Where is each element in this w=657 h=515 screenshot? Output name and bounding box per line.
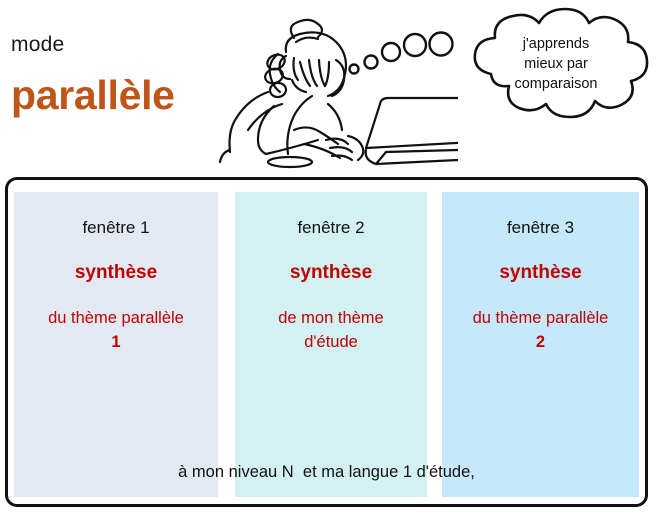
bubble-line-3: comparaison xyxy=(478,74,634,94)
footer-line-1: à mon niveau N et ma langue 1 d'étude, xyxy=(14,456,639,489)
thought-bubble-text: j'apprends mieux par comparaison xyxy=(478,34,634,94)
window-3-number: 2 xyxy=(442,330,639,354)
window-2-subtitle-line-2: d'étude xyxy=(235,330,427,354)
window-2-heading: fenêtre 2 xyxy=(235,218,427,238)
window-1-heading: fenêtre 1 xyxy=(14,218,218,238)
window-3-subtitle-text: du thème parallèle xyxy=(442,306,639,330)
window-1-number: 1 xyxy=(14,330,218,354)
bubble-line-2: mieux par xyxy=(478,54,634,74)
window-3-subtitle: du thème parallèle 2 xyxy=(442,306,639,354)
window-2-subtitle: de mon thème d'étude xyxy=(235,306,427,354)
window-1-synthesis: synthèse xyxy=(14,262,218,284)
mode-label: mode xyxy=(11,33,64,57)
mode-title: parallèle xyxy=(11,72,175,119)
slide-root: mode parallèle xyxy=(0,0,657,515)
thought-bubble-dots-icon xyxy=(344,22,464,82)
bubble-line-1: j'apprends xyxy=(478,34,634,54)
footer-caption: à mon niveau N et ma langue 1 d'étude, p… xyxy=(14,390,639,515)
window-2-subtitle-line-1: de mon thème xyxy=(235,306,427,330)
window-2-synthesis: synthèse xyxy=(235,262,427,284)
window-3-heading: fenêtre 3 xyxy=(442,218,639,238)
window-1-subtitle-text: du thème parallèle xyxy=(14,306,218,330)
window-3-synthesis: synthèse xyxy=(442,262,639,284)
window-1-subtitle: du thème parallèle 1 xyxy=(14,306,218,354)
